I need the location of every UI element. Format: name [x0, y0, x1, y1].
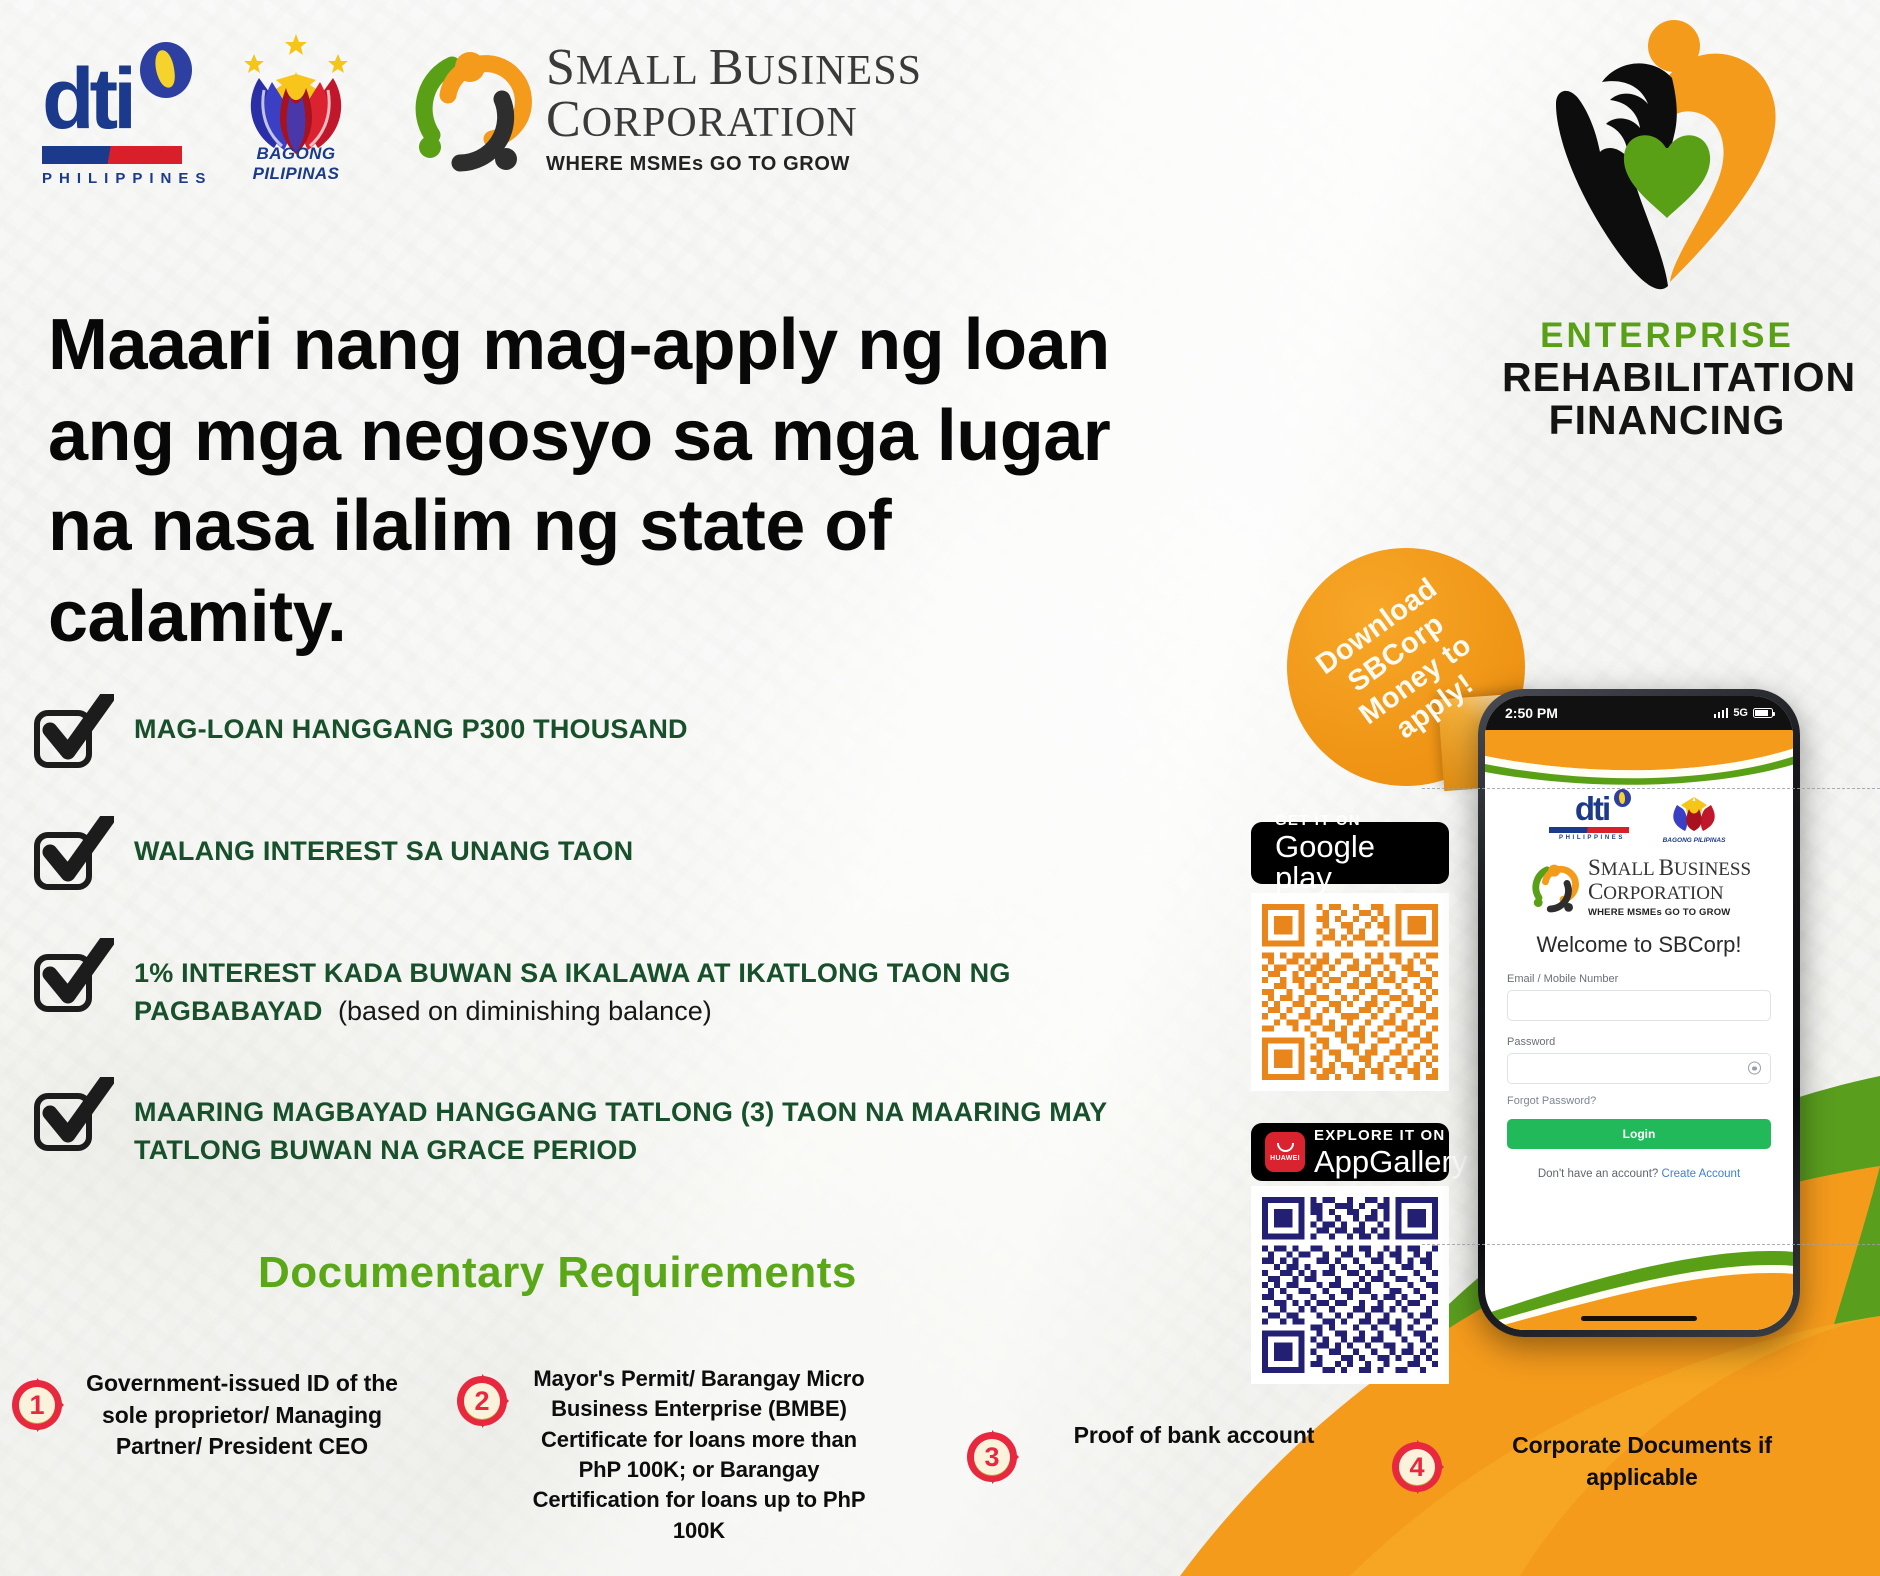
checkbox-checked-icon	[30, 822, 102, 892]
number-badge: 2	[455, 1370, 517, 1432]
dti-globe-icon	[1614, 789, 1631, 807]
sbcorp-name-line1: SMALL BUSINESS	[546, 42, 922, 94]
guide-line-bottom	[1422, 1244, 1880, 1245]
requirement-item: 1 Government-issued ID of the sole propr…	[10, 1368, 410, 1463]
app-login-screen: dti PHILIPPINES BAGONG PILIPINAS	[1485, 786, 1793, 1180]
app-dti-bar	[1549, 827, 1629, 833]
number-badge-label: 4	[1390, 1436, 1444, 1498]
checkbox-checked-icon	[30, 944, 102, 1014]
welcome-heading: Welcome to SBCorp!	[1507, 932, 1771, 958]
bagong-pilipinas-logo: BAGONG PILIPINAS	[216, 28, 376, 188]
login-button[interactable]: Login	[1507, 1119, 1771, 1149]
dti-globe-icon	[140, 42, 192, 98]
app-sbc-line1: SMALL BUSINESS	[1588, 856, 1751, 880]
number-badge-label: 3	[965, 1426, 1019, 1488]
requirement-item: 4 Corporate Documents if applicable	[1390, 1430, 1840, 1498]
no-account-text: Don't have an account?	[1538, 1168, 1662, 1180]
create-account-link[interactable]: Create Account	[1662, 1168, 1741, 1180]
requirement-item: 3 Proof of bank account	[965, 1420, 1365, 1488]
page-headline: Maaari nang mag-apply ng loan ang mga ne…	[48, 300, 1168, 663]
erf-line1: ENTERPRISE	[1502, 316, 1832, 356]
dti-country-label: PHILIPPINES	[42, 170, 212, 187]
appgallery-badge[interactable]: HUAWEI EXPLORE IT ON AppGallery	[1251, 1123, 1449, 1181]
benefits-checklist: MAG-LOAN HANGGANG P300 THOUSAND WALANG I…	[30, 700, 1180, 1221]
dti-wordmark: dti	[42, 56, 132, 142]
app-sbc-tagline: WHERE MSMEs GO TO GROW	[1588, 907, 1751, 918]
app-dti-country: PHILIPPINES	[1549, 835, 1635, 841]
google-play-badge[interactable]: GET IT ON Google play	[1251, 822, 1449, 884]
password-field-label: Password	[1507, 1036, 1771, 1048]
google-play-qr[interactable]	[1251, 893, 1449, 1091]
erf-line2: REHABILITATION	[1502, 356, 1832, 399]
checkbox-checked-icon	[30, 700, 102, 770]
documentary-requirements-title: Documentary Requirements	[258, 1248, 857, 1298]
checklist-note: (based on diminishing balance)	[338, 996, 712, 1026]
huawei-appgallery-icon: HUAWEI	[1265, 1132, 1305, 1172]
dti-color-bar	[42, 146, 182, 164]
requirement-item: 2 Mayor's Permit/ Barangay Micro Busines…	[455, 1364, 875, 1546]
network-label: 5G	[1733, 707, 1748, 719]
checklist-item: 1% INTEREST KADA BUWAN SA IKALAWA AT IKA…	[30, 944, 1180, 1031]
documentary-requirements-list: 1 Government-issued ID of the sole propr…	[0, 1368, 1880, 1558]
number-badge: 3	[965, 1426, 1027, 1488]
sbcorp-logo: SMALL BUSINESS CORPORATION WHERE MSMEs G…	[402, 42, 922, 174]
sbcorp-three-arcs-icon	[402, 43, 532, 173]
number-badge-label: 1	[10, 1374, 64, 1436]
appgallery-large-label: AppGallery	[1314, 1146, 1467, 1177]
battery-icon	[1753, 708, 1773, 718]
app-dti-logo: dti PHILIPPINES	[1549, 792, 1635, 844]
header-logos: dti PHILIPPINES	[40, 28, 922, 188]
sbcorp-tagline: WHERE MSMEs GO TO GROW	[546, 154, 922, 174]
app-sbc-line2: CORPORATION	[1588, 880, 1751, 904]
home-indicator	[1581, 1316, 1697, 1321]
checkbox-checked-icon	[30, 1083, 102, 1153]
app-sbcorp-logo: SMALL BUSINESS CORPORATION WHERE MSMEs G…	[1507, 856, 1771, 918]
email-field-label: Email / Mobile Number	[1507, 973, 1771, 985]
number-badge: 4	[1390, 1436, 1452, 1498]
app-header-wave	[1485, 730, 1793, 786]
number-badge-label: 2	[455, 1370, 509, 1432]
checklist-item: MAARING MAGBAYAD HANGGANG TATLONG (3) TA…	[30, 1083, 1180, 1170]
sbcorp-three-arcs-icon	[1527, 861, 1579, 913]
status-time: 2:50 PM	[1505, 705, 1558, 721]
app-gov-logos: dti PHILIPPINES BAGONG PILIPINAS	[1507, 792, 1771, 844]
password-field[interactable]	[1507, 1053, 1771, 1084]
email-field[interactable]	[1507, 990, 1771, 1021]
bagong-pilipinas-label: BAGONG PILIPINAS	[216, 144, 376, 184]
google-play-large-label: Google play	[1275, 831, 1435, 893]
checklist-text: 1% INTEREST KADA BUWAN SA IKALAWA AT IKA…	[134, 944, 1180, 1031]
erf-logo: ENTERPRISE REHABILITATION FINANCING	[1502, 20, 1832, 442]
google-play-small-label: GET IT ON	[1275, 813, 1435, 828]
dti-logo: dti PHILIPPINES	[40, 28, 190, 188]
appgallery-small-label: EXPLORE IT ON	[1314, 1128, 1467, 1143]
huawei-brand-label: HUAWEI	[1270, 1155, 1300, 1162]
requirement-text: Proof of bank account	[1039, 1420, 1349, 1452]
requirement-text: Corporate Documents if applicable	[1462, 1430, 1822, 1493]
appgallery-qr[interactable]	[1251, 1186, 1449, 1384]
checklist-item: MAG-LOAN HANGGANG P300 THOUSAND	[30, 700, 1180, 770]
app-footer-wave	[1485, 1244, 1793, 1330]
checklist-text: WALANG INTEREST SA UNANG TAON	[134, 822, 633, 870]
philippine-sun-shield-icon	[216, 28, 376, 160]
app-bagong-pilipinas-logo: BAGONG PILIPINAS	[1659, 793, 1729, 844]
guide-line-top	[1422, 788, 1880, 789]
requirement-text: Government-issued ID of the sole proprie…	[82, 1368, 402, 1463]
signal-bars-icon	[1714, 708, 1729, 718]
status-bar: 2:50 PM 5G	[1485, 696, 1793, 730]
requirement-text: Mayor's Permit/ Barangay Micro Business …	[523, 1364, 875, 1546]
sbcorp-name-line2: CORPORATION	[546, 94, 922, 146]
checklist-text: MAARING MAGBAYAD HANGGANG TATLONG (3) TA…	[134, 1083, 1180, 1170]
forgot-password-link[interactable]: Forgot Password?	[1507, 1095, 1771, 1107]
eye-icon[interactable]	[1748, 1062, 1761, 1075]
app-bp-label: BAGONG PILIPINAS	[1659, 837, 1729, 844]
checklist-text: MAG-LOAN HANGGANG P300 THOUSAND	[134, 700, 688, 748]
create-account-row: Don't have an account? Create Account	[1507, 1168, 1771, 1180]
erf-line3: FINANCING	[1502, 399, 1832, 442]
phone-notch	[1583, 696, 1695, 721]
phone-mockup: 2:50 PM 5G dti PHILIPPINES	[1478, 689, 1800, 1337]
number-badge: 1	[10, 1374, 72, 1436]
hand-heart-person-icon	[1522, 20, 1812, 320]
checklist-item: WALANG INTEREST SA UNANG TAON	[30, 822, 1180, 892]
phone-screen: 2:50 PM 5G dti PHILIPPINES	[1485, 696, 1793, 1330]
